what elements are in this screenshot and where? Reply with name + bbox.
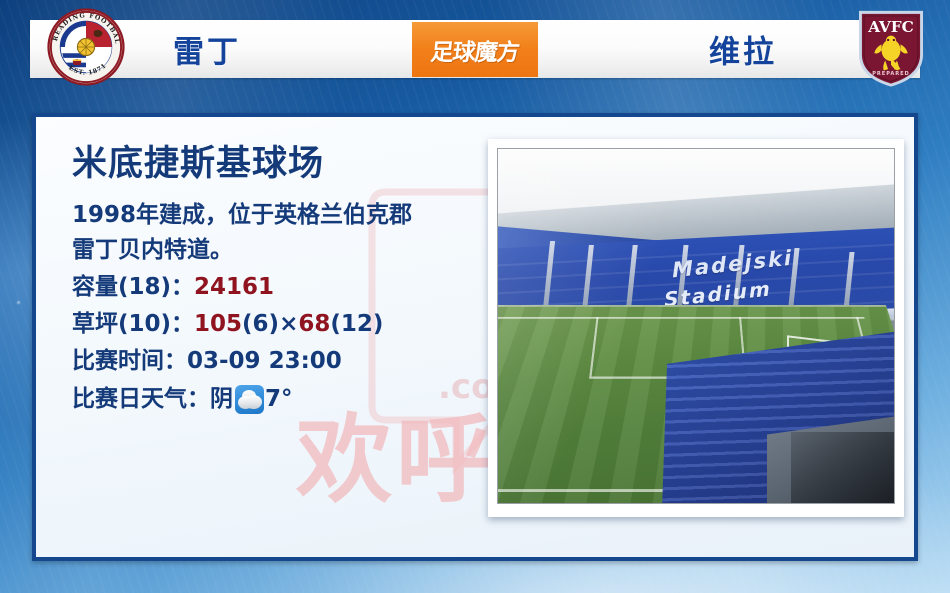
stadium-title: 米底捷斯基球场: [72, 145, 502, 184]
avfc-initials: AVFC: [867, 18, 914, 36]
madejski-stadium-photo: Madejski Stadium: [497, 148, 895, 504]
pitch-width: 68: [298, 306, 330, 343]
capacity-value: 24161: [194, 269, 274, 306]
match-time-label: 比赛时间：: [72, 343, 187, 380]
reading-fc-crest-icon: READING FOOTBALL CLUB EST. 1871: [47, 8, 125, 86]
pitch-size-row: 草坪(10)： 105 (6) × 68 (12): [72, 306, 502, 343]
stadium-description-line-2: 雷丁贝内特道。: [72, 233, 502, 269]
weather-row: 比赛日天气： 阴 7°: [72, 381, 502, 418]
weather-condition: 阴: [210, 381, 233, 418]
capacity-row: 容量(18)： 24161: [72, 269, 502, 306]
home-team-name: 雷丁: [173, 27, 241, 72]
stadium-description-line-1: 1998年建成，位于英格兰伯克郡: [72, 198, 502, 234]
pitch-length: 105: [194, 306, 242, 343]
pitch-label: 草坪(10)：: [72, 306, 194, 343]
stadium-photo-frame: Madejski Stadium: [488, 139, 904, 517]
match-time-row: 比赛时间： 03-09 23:00: [72, 343, 502, 380]
stadium-info-column: 米底捷斯基球场 1998年建成，位于英格兰伯克郡 雷丁贝内特道。 容量(18)：…: [72, 145, 502, 418]
site-brand-logo[interactable]: 足球魔方: [412, 22, 538, 77]
photo-shadow-corner: [791, 432, 894, 503]
away-team-name: 维拉: [709, 27, 777, 72]
pitch-length-rank: (6): [242, 306, 279, 343]
weather-label: 比赛日天气：: [72, 381, 210, 418]
site-brand-label: 足球魔方: [429, 33, 521, 67]
pitch-separator: ×: [279, 306, 298, 343]
cloudy-icon: [235, 385, 264, 414]
aston-villa-crest-icon: AVFC PREPARED: [854, 8, 928, 88]
capacity-label: 容量(18)：: [72, 269, 194, 306]
match-time-value: 03-09 23:00: [187, 343, 342, 380]
pitch-width-rank: (12): [330, 306, 383, 343]
avfc-motto: PREPARED: [872, 71, 909, 77]
weather-temperature: 7°: [265, 381, 293, 418]
